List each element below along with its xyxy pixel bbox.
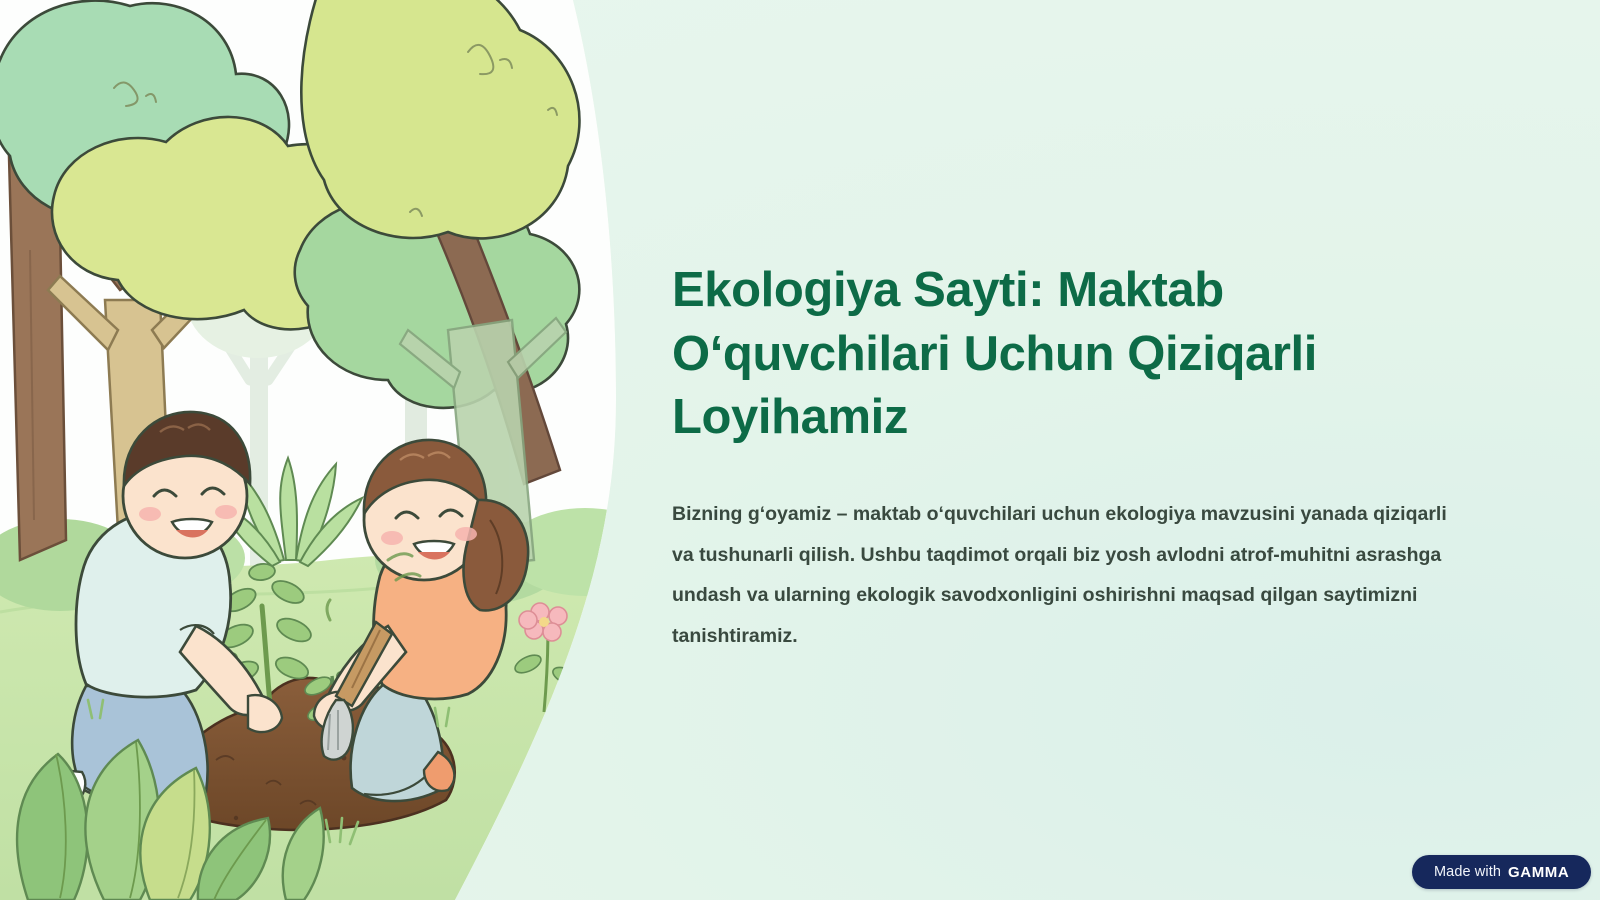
text-column: Ekologiya Sayti: Maktab O‘quvchilari Uch… [672, 0, 1462, 900]
gamma-wordmark: GAMMA [1508, 864, 1569, 881]
page-title: Ekologiya Sayti: Maktab O‘quvchilari Uch… [672, 259, 1444, 450]
hero-illustration [0, 0, 640, 900]
made-with-gamma-badge[interactable]: Made with GAMMA [1412, 855, 1591, 889]
illustration-scene [0, 0, 640, 900]
slide-root: Ekologiya Sayti: Maktab O‘quvchilari Uch… [0, 0, 1600, 900]
made-with-label: Made with [1434, 864, 1501, 880]
intro-paragraph: Bizning g‘oyamiz – maktab o‘quvchilari u… [672, 494, 1447, 656]
